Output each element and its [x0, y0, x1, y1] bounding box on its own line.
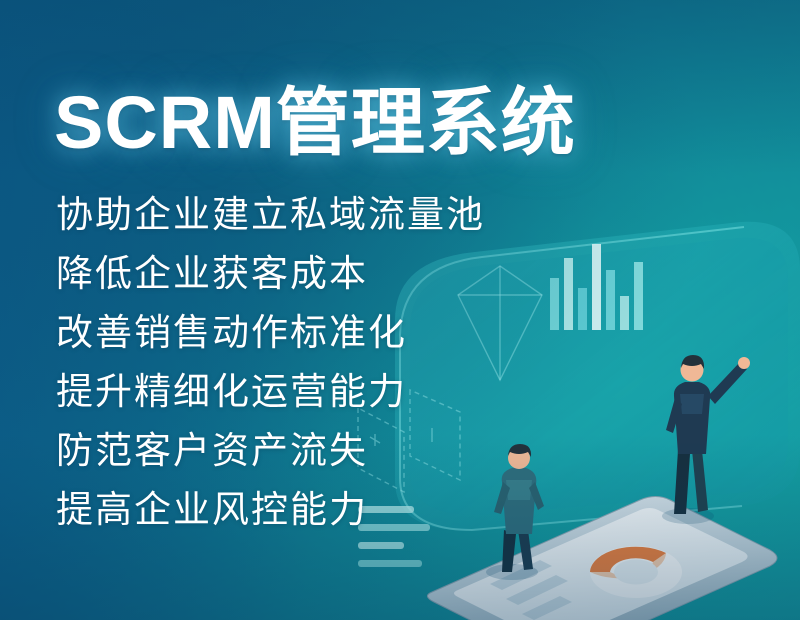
list-item: 协助企业建立私域流量池: [56, 196, 485, 233]
page-title: SCRM管理系统: [54, 86, 576, 160]
list-item: 提升精细化运营能力: [56, 373, 485, 410]
banner-canvas: SCRM管理系统 协助企业建立私域流量池 降低企业获客成本 改善销售动作标准化 …: [0, 0, 800, 620]
list-item: 防范客户资产流失: [56, 432, 485, 469]
feature-list: 协助企业建立私域流量池 降低企业获客成本 改善销售动作标准化 提升精细化运营能力…: [56, 196, 485, 550]
list-item: 改善销售动作标准化: [56, 314, 485, 351]
list-item: 降低企业获客成本: [56, 255, 485, 292]
list-item: 提高企业风控能力: [56, 491, 485, 528]
